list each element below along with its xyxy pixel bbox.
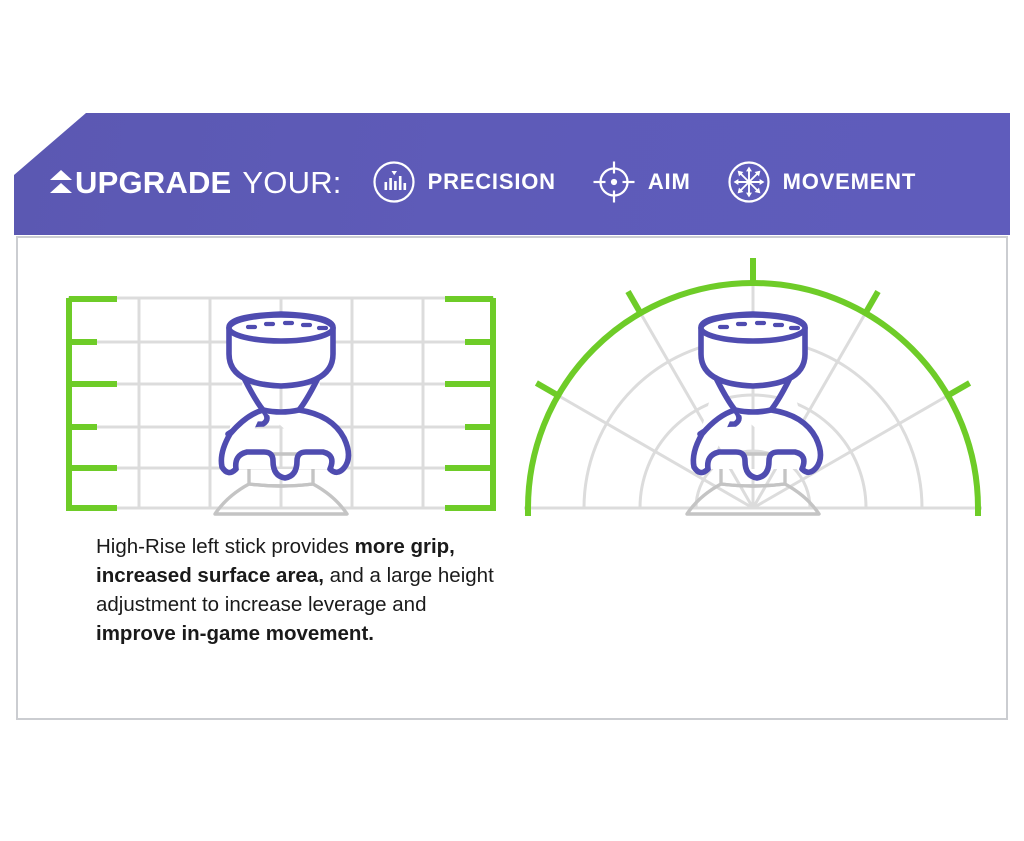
upgrade-headline: UPGRADE YOUR: [50,167,342,198]
feature-precision-label: PRECISION [428,169,556,195]
radial-arc-diagram: High-Rise right stick significantly incr… [514,238,992,518]
multi-direction-arrows-icon [727,160,771,204]
upgrade-word: UPGRADE [75,167,231,198]
feature-movement: MOVEMENT [727,160,917,204]
radial-arc-svg [514,238,992,518]
feature-movement-label: MOVEMENT [783,169,917,195]
feature-aim-label: AIM [648,169,691,195]
linear-grid-svg [42,238,502,518]
precision-gauge-icon [372,160,416,204]
your-word: YOUR: [242,167,341,198]
upgrade-banner: UPGRADE YOUR: [14,113,1010,235]
linear-grid-diagram: High-Rise left stick provides more grip,… [42,238,502,518]
crosshair-target-icon [592,160,636,204]
feature-aim: AIM [592,160,691,204]
left-caption: High-Rise left stick provides more grip,… [96,532,496,648]
page-root: UPGRADE YOUR: [0,0,1024,841]
double-up-arrow-icon [50,168,72,196]
feature-list: PRECISION AIM [372,160,916,204]
feature-precision: PRECISION [372,160,556,204]
left-caption-text: High-Rise left stick provides more grip,… [96,535,494,645]
banner-content: UPGRADE YOUR: [14,113,1010,235]
content-card: High-Rise left stick provides more grip,… [16,236,1008,720]
